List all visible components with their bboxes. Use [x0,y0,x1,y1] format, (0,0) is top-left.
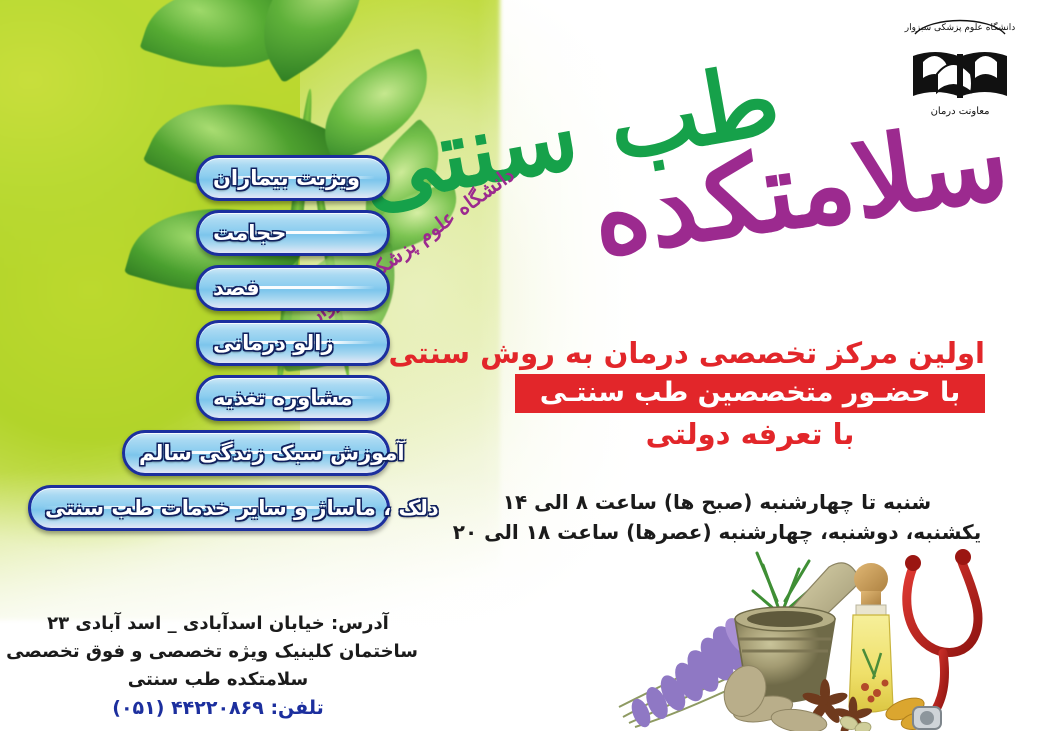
service-label: مشاوره تغذیه [213,386,353,410]
address-line-street: آدرس: خیابان اسدآبادی _ اسد آبادی ۲۳ [18,610,418,638]
service-button-healthy-lifestyle-education[interactable]: آموزش سبک زندگی سالم [122,430,390,476]
service-button-massage-other-services[interactable]: دلک ، ماساژ و سایر خدمات طب سنتی [28,485,390,531]
phone-number: تلفن: ۴۴۲۲۰۸۶۹ (۰۵۱) [18,694,418,723]
service-button-hijama[interactable]: حجامت [196,210,390,256]
service-label: فصد [213,276,260,300]
service-button-fasd[interactable]: فصد [196,265,390,311]
service-label: ویزیت بیماران [213,166,360,190]
services-list: ویزیت بیماران حجامت فصد زالو درمانی مشاو… [28,155,390,540]
schedule-block: شنبه تا چهارشنبه (صبح ها) ساعت ۸ الی ۱۴ … [437,487,997,547]
headline-first-specialized-center: اولین مرکز تخصصی درمان به روش سنتی [515,336,985,370]
logo-top-text: دانشگاه علوم پزشکی سبزوار [904,21,1016,33]
service-label: آموزش سبک زندگی سالم [139,441,405,465]
headline-block: اولین مرکز تخصصی درمان به روش سنتی با حض… [515,336,985,451]
logo-bottom-text: معاونت درمان [931,106,990,117]
schedule-morning: شنبه تا چهارشنبه (صبح ها) ساعت ۸ الی ۱۴ [437,487,997,517]
schedule-afternoon: یکشنبه، دوشنبه، چهارشنبه (عصرها) ساعت ۱۸… [437,517,997,547]
address-line-center-name: سلامتکده طب سنتی [18,666,418,694]
service-label: حجامت [213,221,286,245]
service-button-visit[interactable]: ویزیت بیماران [196,155,390,201]
service-button-nutrition-consulting[interactable]: مشاوره تغذیه [196,375,390,421]
service-button-leech-therapy[interactable]: زالو درمانی [196,320,390,366]
headline-red-band: با حضـور متخصصین طب سنتـی [515,374,985,413]
poster-canvas: دانشگاه علوم پزشکی سبزوار معاونت درمان ط… [0,0,1037,731]
address-line-building: ساختمان کلینیک ویژه تخصصی و فوق تخصصی – … [18,638,418,666]
address-block: آدرس: خیابان اسدآبادی _ اسد آبادی ۲۳ ساخ… [18,610,418,723]
headline-government-tariff: با تعرفه دولتی [515,417,985,451]
headline-with-specialists: با حضـور متخصصین طب سنتـی [540,377,961,408]
service-label: دلک ، ماساژ و سایر خدمات طب سنتی [45,496,439,520]
university-logo: دانشگاه علوم پزشکی سبزوار معاونت درمان [901,8,1019,120]
service-label: زالو درمانی [213,331,334,355]
open-book-icon [913,52,1007,98]
